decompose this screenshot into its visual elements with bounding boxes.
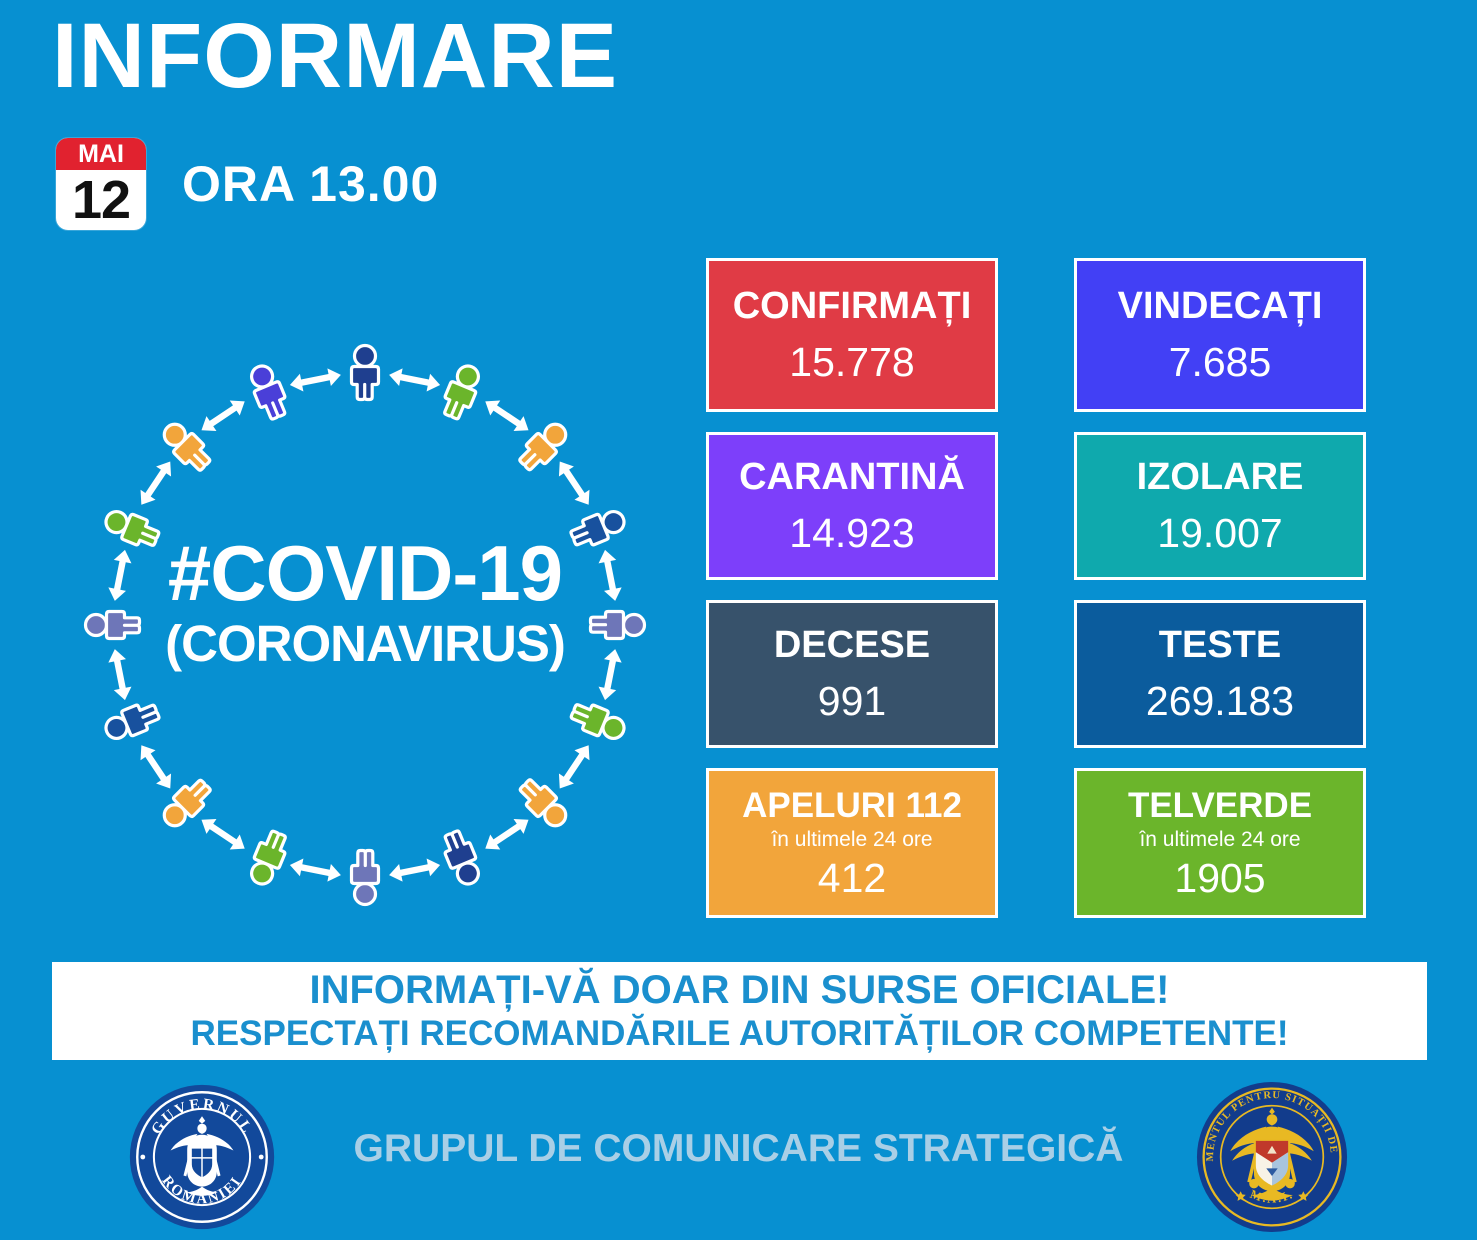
stat-value: 15.778 (789, 338, 914, 386)
stat-label: TELVERDE (1128, 784, 1312, 828)
covid-circle-graphic: #COVID-19 (CORONAVIRUS) (40, 300, 690, 950)
calendar-day-label: 12 (56, 170, 146, 230)
stat-label: VINDECAȚI (1118, 284, 1323, 328)
dsu-shield (1256, 1141, 1288, 1186)
stat-card-apeluri-112: APELURI 112 în ultimele 24 ore 412 (706, 768, 998, 918)
stat-card-vindecati: VINDECAȚI 7.685 (1074, 258, 1366, 412)
stat-label: DECESE (774, 623, 930, 667)
stat-label: CONFIRMAȚI (733, 284, 972, 328)
stat-value: 14.923 (789, 509, 914, 557)
stat-label: IZOLARE (1137, 455, 1304, 499)
page-header: INFORMARE MAI 12 ORA 13.00 (0, 0, 1477, 250)
stat-value: 19.007 (1157, 509, 1282, 557)
banner-line-1: INFORMAȚI-VĂ DOAR DIN SURSE OFICIALE! (310, 967, 1170, 1013)
page-title: INFORMARE (52, 8, 618, 105)
stat-card-telverde: TELVERDE în ultimele 24 ore 1905 (1074, 768, 1366, 918)
stat-card-izolare: IZOLARE 19.007 (1074, 432, 1366, 580)
official-sources-banner: INFORMAȚI-VĂ DOAR DIN SURSE OFICIALE! RE… (52, 962, 1427, 1060)
date-time-row: MAI 12 ORA 13.00 (56, 138, 439, 230)
stat-card-carantina: CARANTINĂ 14.923 (706, 432, 998, 580)
stat-label: APELURI 112 (742, 784, 962, 828)
dsu-mai-seal: DEPARTAMENTUL PENTRU SITUAȚII DE URGENȚĂ… (1196, 1081, 1348, 1233)
stat-card-decese: DECESE 991 (706, 600, 998, 748)
stat-card-teste: TESTE 269.183 (1074, 600, 1366, 748)
report-hour: ORA 13.00 (182, 155, 439, 213)
stat-value: 991 (818, 677, 886, 725)
stat-value: 269.183 (1146, 677, 1294, 725)
stat-label: TESTE (1159, 623, 1281, 667)
stat-sublabel: în ultimele 24 ore (771, 827, 932, 852)
stat-card-confirmati: CONFIRMAȚI 15.778 (706, 258, 998, 412)
stat-value: 1905 (1174, 854, 1265, 902)
page-footer: GUVERNUL ROMÂNIEI GRUPUL DE COMUNICARE S… (0, 1075, 1477, 1240)
stat-label: CARANTINĂ (739, 455, 965, 499)
calendar-icon: MAI 12 (56, 138, 146, 230)
calendar-month-label: MAI (56, 138, 146, 170)
statistics-grid: CONFIRMAȚI 15.778 VINDECAȚI 7.685 CARANT… (706, 258, 1374, 918)
people-circle-svg (40, 300, 690, 950)
stat-value: 412 (818, 854, 886, 902)
stat-value: 7.685 (1169, 338, 1272, 386)
stat-sublabel: în ultimele 24 ore (1139, 827, 1300, 852)
banner-line-2: RESPECTAȚI RECOMANDĂRILE AUTORITĂȚILOR C… (191, 1013, 1289, 1055)
circle-people-group (86, 346, 645, 905)
